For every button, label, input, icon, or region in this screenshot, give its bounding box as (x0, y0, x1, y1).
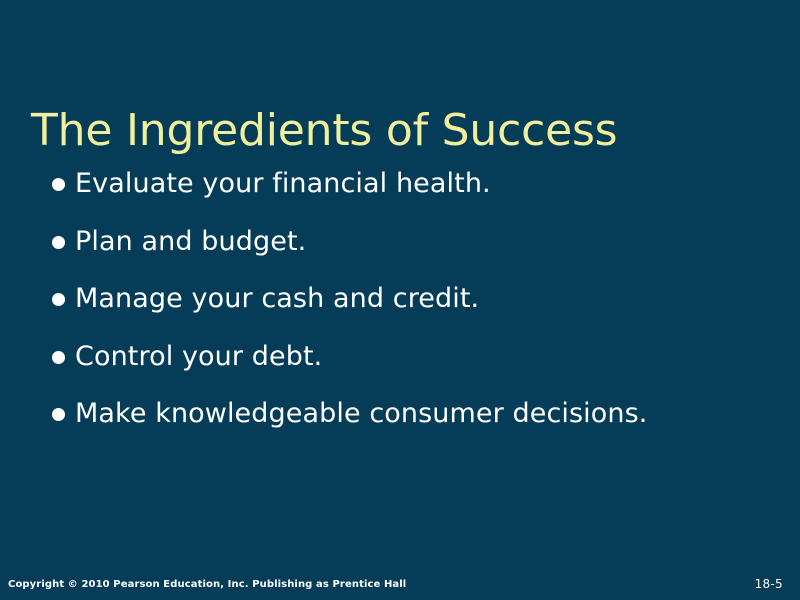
bullet-point-icon (52, 293, 65, 306)
list-item: Manage your cash and credit. (0, 279, 800, 337)
list-item-label: Manage your cash and credit. (75, 279, 479, 319)
copyright-notice: Copyright © 2010 Pearson Education, Inc.… (8, 578, 406, 592)
list-item-label: Evaluate your financial health. (75, 164, 491, 204)
bullet-list: Evaluate your financial health. Plan and… (0, 164, 800, 452)
bullet-point-icon (52, 236, 65, 249)
list-item: Control your debt. (0, 337, 800, 395)
list-item-label: Plan and budget. (75, 222, 306, 262)
bullet-point-icon (52, 351, 65, 364)
list-item-label: Make knowledgeable consumer decisions. (75, 394, 647, 434)
page-title: The Ingredients of Success (31, 105, 761, 157)
bullet-point-icon (52, 178, 65, 191)
list-item: Make knowledgeable consumer decisions. (0, 394, 800, 452)
presentation-slide: The Ingredients of Success Evaluate your… (0, 0, 800, 600)
bullet-point-icon (52, 408, 65, 421)
slide-number: 18-5 (755, 576, 783, 592)
list-item-label: Control your debt. (75, 337, 322, 377)
list-item: Plan and budget. (0, 222, 800, 280)
list-item: Evaluate your financial health. (0, 164, 800, 222)
